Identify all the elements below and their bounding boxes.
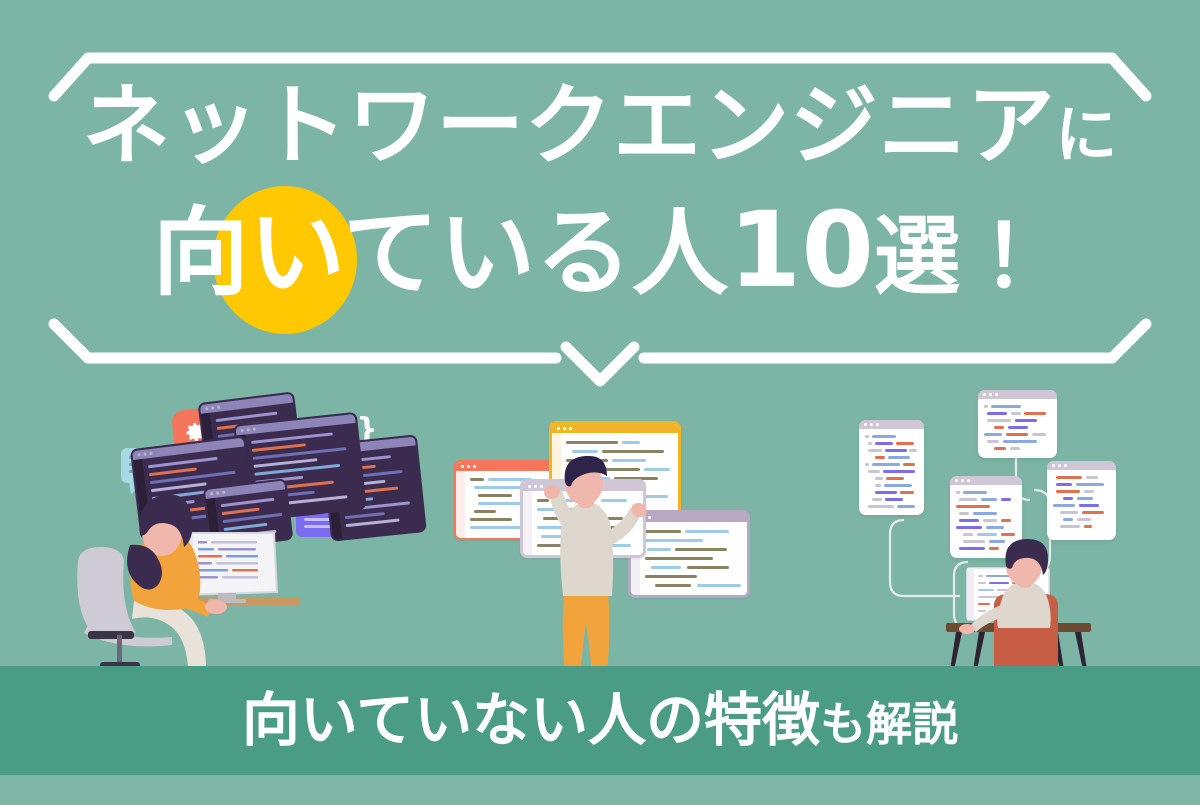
chevron-down-icon — [566, 347, 634, 381]
title-highlight-char: 向 — [153, 197, 249, 309]
illustration-right — [838, 370, 1178, 675]
background-band-bottom — [0, 775, 1200, 805]
headline-block: ネットワークエンジニアに 向いている人10選！ — [0, 0, 1200, 400]
illustration-center — [448, 400, 748, 680]
subtitle-tail: も解説 — [820, 697, 958, 751]
workstation-group — [838, 370, 1178, 675]
page-subtitle: 向いていない人の特徴も解説 — [0, 683, 1200, 761]
poster-canvas: </> { } — [0, 0, 1200, 805]
page-title-line-2: 向いている人10選！ — [0, 194, 1200, 313]
workstation-group — [70, 385, 400, 675]
title-counter: 選 — [874, 207, 960, 307]
page-title-line-1: ネットワークエンジニアに — [0, 76, 1200, 185]
title-exclamation: ！ — [961, 207, 1047, 307]
title-number: 10 — [729, 189, 875, 311]
illustration-left: </> { } — [70, 385, 400, 675]
subtitle-main: 向いていない人の特徴 — [242, 686, 820, 754]
man-standing-figure — [448, 400, 748, 680]
bracket-bottom-right — [644, 324, 1146, 358]
title-mid-text: いている人 — [249, 197, 729, 309]
title-main-text: ネットワークエンジニア — [82, 74, 1055, 177]
title-particle: に — [1055, 98, 1117, 171]
